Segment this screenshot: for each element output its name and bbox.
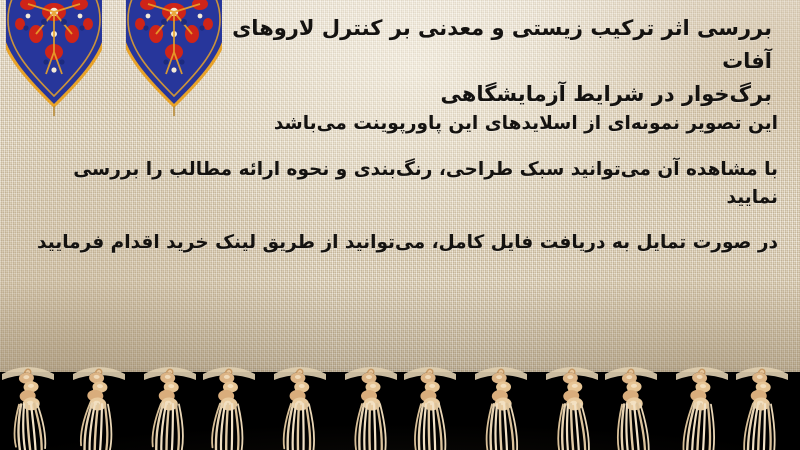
fringe-tassel [544, 358, 600, 450]
fringe-tassel [201, 358, 257, 450]
slide-canvas: بررسی اثر ترکیب زیستی و معدنی بر کنترل ل… [0, 0, 800, 450]
carpet-fringe-row [0, 358, 800, 450]
body-line-1: این تصویر نمونه‌ای از اسلایدهای این پاور… [22, 110, 778, 138]
fringe-tassel [603, 358, 659, 450]
fringe-tassel [71, 358, 127, 450]
persian-medallion-ornament-right [126, 0, 222, 116]
fringe-tassel [402, 358, 458, 450]
body-line-2: با مشاهده آن می‌توانید سبک طراحی، رنگ‌بن… [22, 156, 778, 212]
fringe-tassel [272, 358, 328, 450]
fringe-tassel [473, 358, 529, 450]
fringe-tassel [343, 358, 399, 450]
slide-title: بررسی اثر ترکیب زیستی و معدنی بر کنترل ل… [212, 12, 772, 112]
slide-title-line-1: بررسی اثر ترکیب زیستی و معدنی بر کنترل ل… [212, 12, 772, 78]
slide-body-text: این تصویر نمونه‌ای از اسلایدهای این پاور… [22, 110, 778, 257]
fringe-tassel [142, 358, 198, 450]
body-line-3: در صورت تمایل به دریافت فایل کامل، می‌تو… [22, 229, 778, 257]
slide-title-line-2: برگ‌خوار در شرایط آزمایشگاهی [212, 78, 772, 111]
persian-medallion-ornament-left [6, 0, 102, 116]
fringe-tassel [734, 358, 790, 450]
fringe-tassel [674, 358, 730, 450]
fringe-tassel [0, 358, 56, 450]
